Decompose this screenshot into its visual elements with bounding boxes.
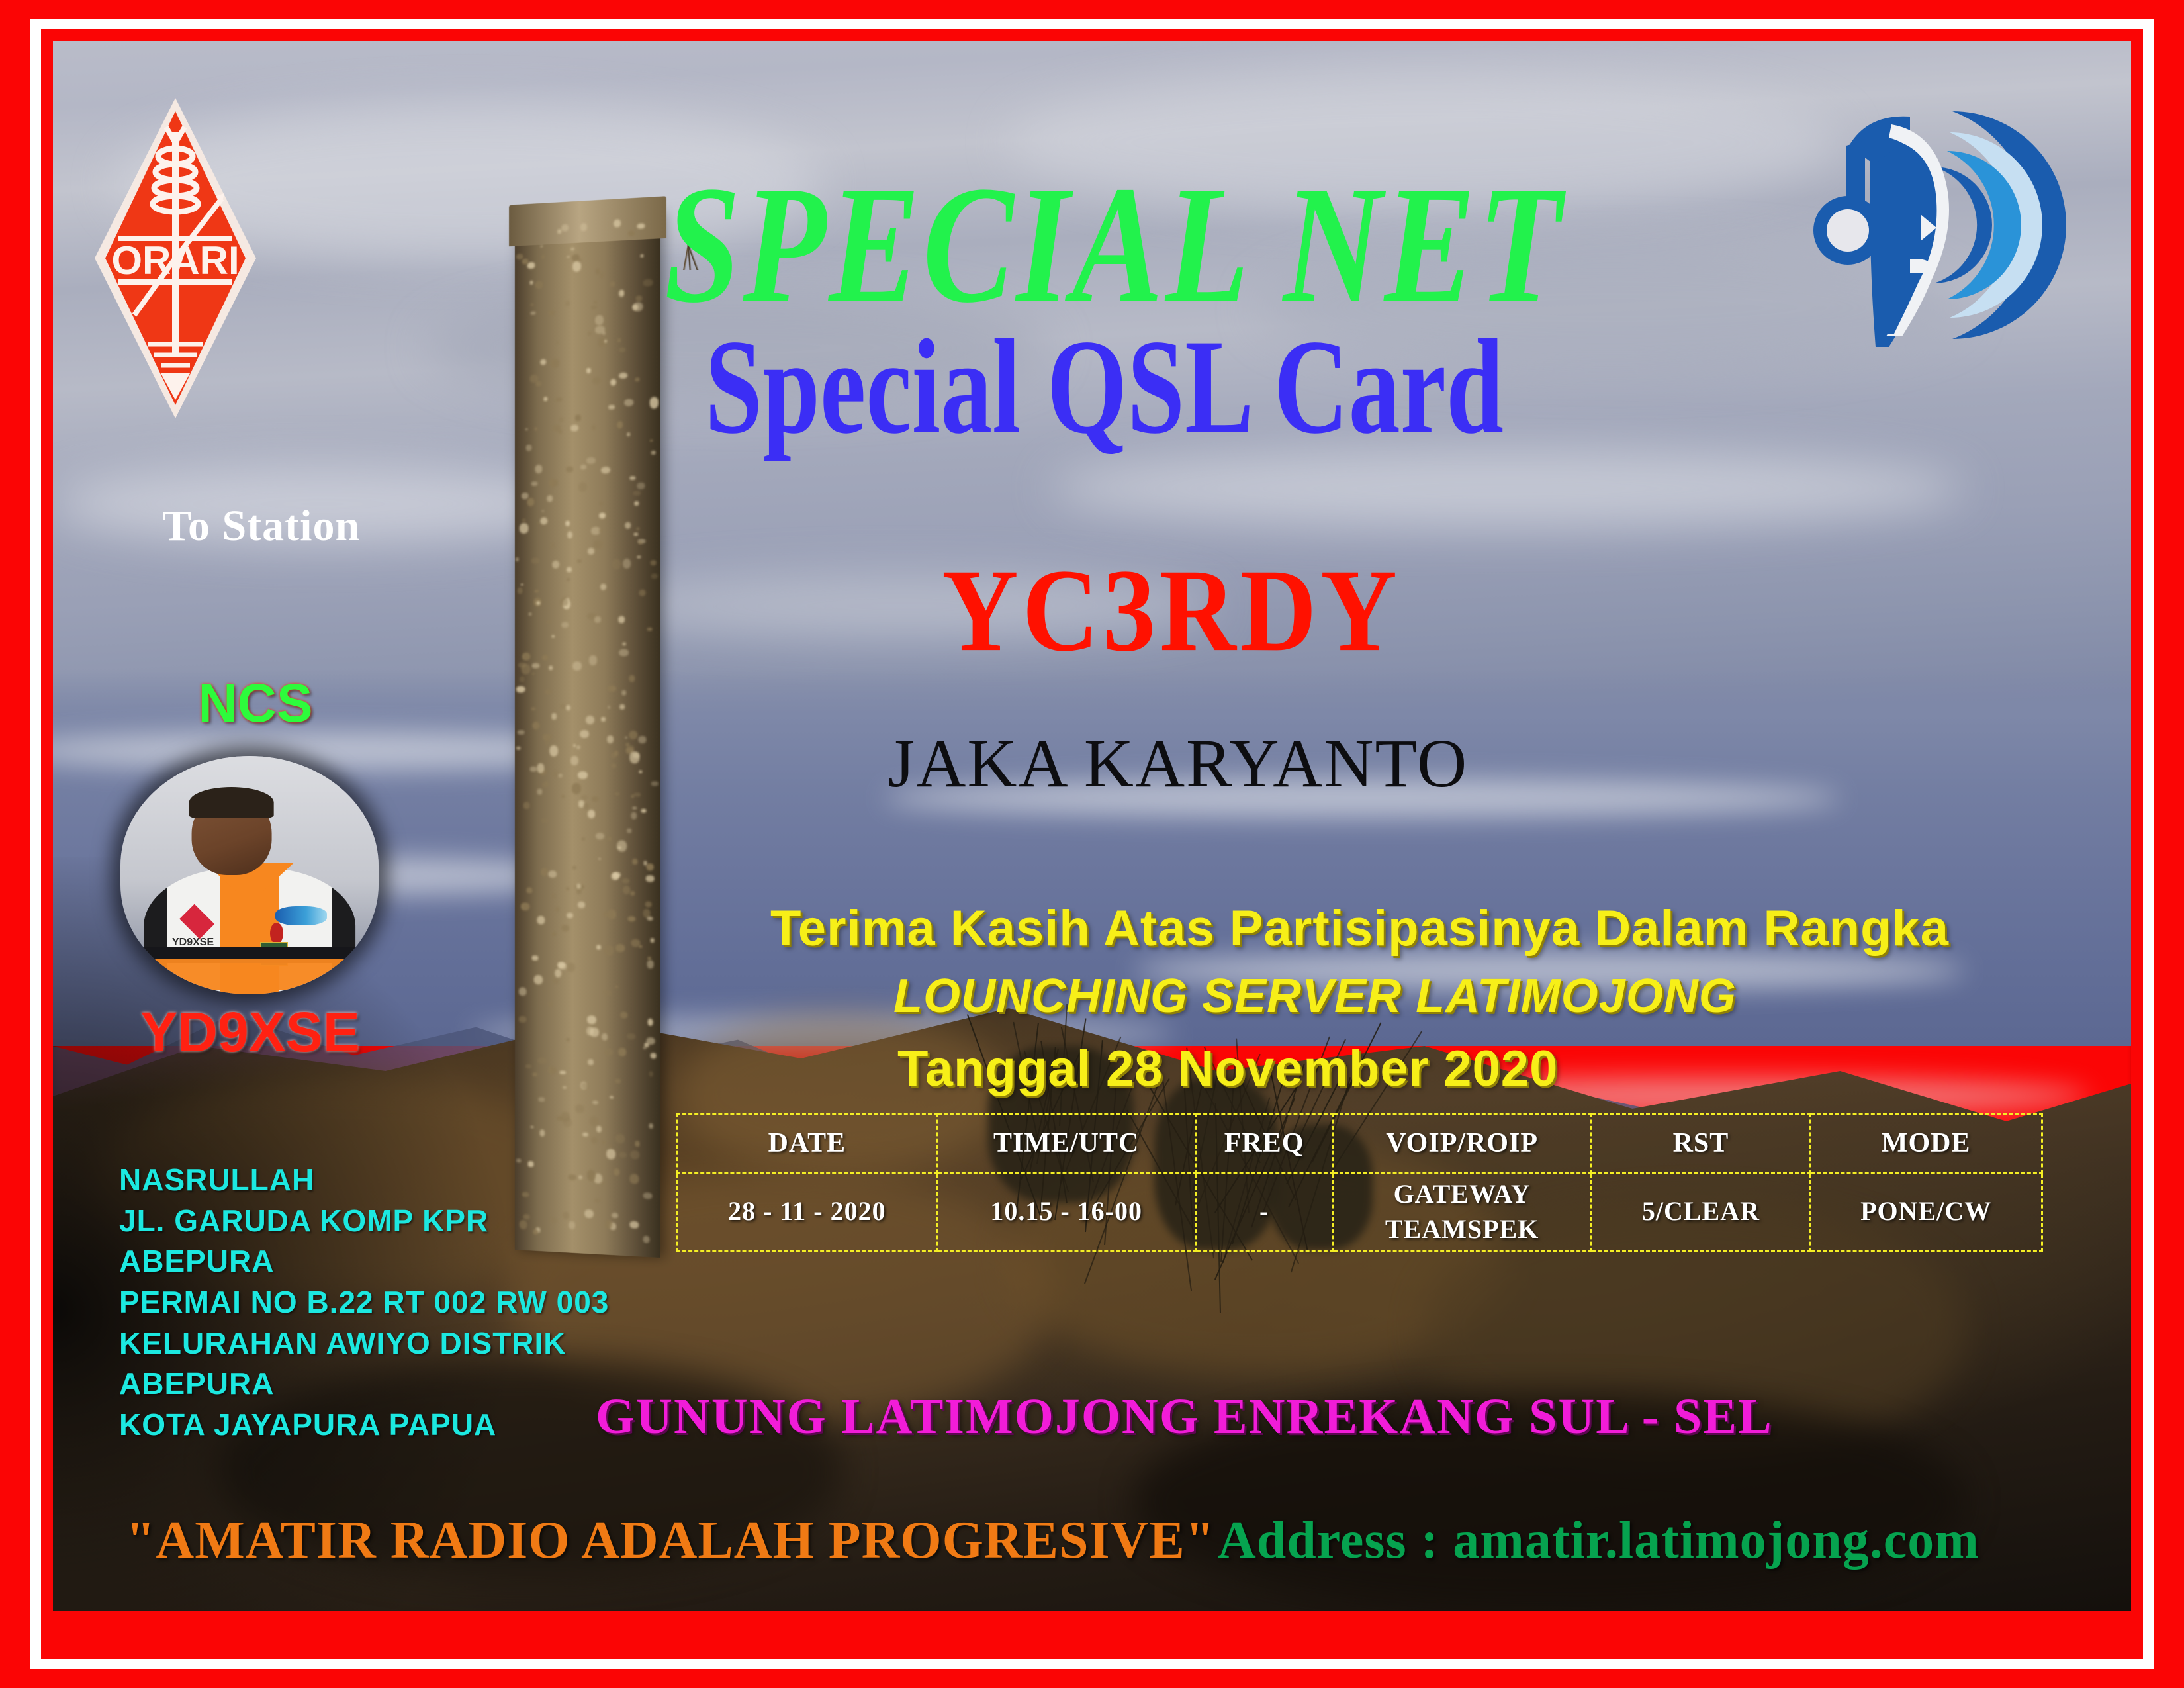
cell-freq: - bbox=[1196, 1173, 1332, 1251]
event-location: GUNUNG LATIMOJONG ENREKANG SUL - SEL bbox=[596, 1391, 1893, 1442]
address-block: NASRULLAH JL. GARUDA KOMP KPR ABEPURA PE… bbox=[119, 1160, 609, 1445]
motto-text: "AMATIR RADIO ADALAH PROGRESIVE" bbox=[126, 1514, 1215, 1567]
address-line: NASRULLAH bbox=[119, 1160, 609, 1201]
address-line: ABEPURA bbox=[119, 1364, 609, 1405]
address-line: JL. GARUDA KOMP KPR bbox=[119, 1201, 609, 1242]
address-line: PERMAI NO B.22 RT 002 RW 003 bbox=[119, 1282, 609, 1323]
uniform-sash bbox=[152, 959, 347, 990]
to-station-label: To Station bbox=[162, 504, 360, 548]
address-line: ABEPURA bbox=[119, 1241, 609, 1282]
column-header-freq: FREQ bbox=[1196, 1115, 1332, 1173]
station-callsign: YC3RDY bbox=[874, 551, 1469, 669]
table-row: 28 - 11 - 2020 10.15 - 16-00 - GATEWAY T… bbox=[678, 1173, 2042, 1251]
cell-voip: GATEWAY TEAMSPEK bbox=[1332, 1173, 1592, 1251]
column-header-voip: VOIP/ROIP bbox=[1332, 1115, 1592, 1173]
column-header-rst: RST bbox=[1592, 1115, 1810, 1173]
column-header-time: TIME/UTC bbox=[936, 1115, 1196, 1173]
qso-log-table: DATE TIME/UTC FREQ VOIP/ROIP RST MODE 28… bbox=[676, 1113, 2043, 1252]
operator-name: JAKA KARYANTO bbox=[814, 729, 1542, 798]
web-address-text: Address : amatir.latimojong.com bbox=[1218, 1514, 1979, 1567]
operator-photo: YD9XSE bbox=[120, 756, 379, 994]
table-header-row: DATE TIME/UTC FREQ VOIP/ROIP RST MODE bbox=[678, 1115, 2042, 1173]
address-line: KOTA JAYAPURA PAPUA bbox=[119, 1405, 609, 1446]
cell-mode: PONE/CW bbox=[1810, 1173, 2042, 1251]
thanks-line-1: Terima Kasih Atas Partisipasinya Dalam R… bbox=[754, 895, 2078, 962]
ncs-role-label: NCS bbox=[163, 677, 348, 731]
cell-date: 28 - 11 - 2020 bbox=[678, 1173, 937, 1251]
cell-time: 10.15 - 16-00 bbox=[936, 1173, 1196, 1251]
page-title-special-net: SPECIAL NET bbox=[95, 160, 2089, 328]
lanyard-clip bbox=[270, 923, 283, 944]
thanks-line-2: LOUNCHING SERVER LATIMOJONG bbox=[754, 962, 2078, 1031]
subtitle-special-qsl-card: Special QSL Card bbox=[126, 319, 2058, 455]
operator-hair bbox=[189, 787, 274, 818]
column-header-mode: MODE bbox=[1810, 1115, 2042, 1173]
thanks-line-3: Tanggal 28 November 2020 bbox=[754, 1031, 2078, 1107]
thanks-block: Terima Kasih Atas Partisipasinya Dalam R… bbox=[754, 895, 2078, 1107]
cell-rst: 5/CLEAR bbox=[1592, 1173, 1810, 1251]
chest-logo-patch bbox=[275, 906, 327, 925]
ncs-callsign: YD9XSE bbox=[131, 1004, 369, 1060]
column-header-date: DATE bbox=[678, 1115, 937, 1173]
address-line: KELURAHAN AWIYO DISTRIK bbox=[119, 1323, 609, 1364]
